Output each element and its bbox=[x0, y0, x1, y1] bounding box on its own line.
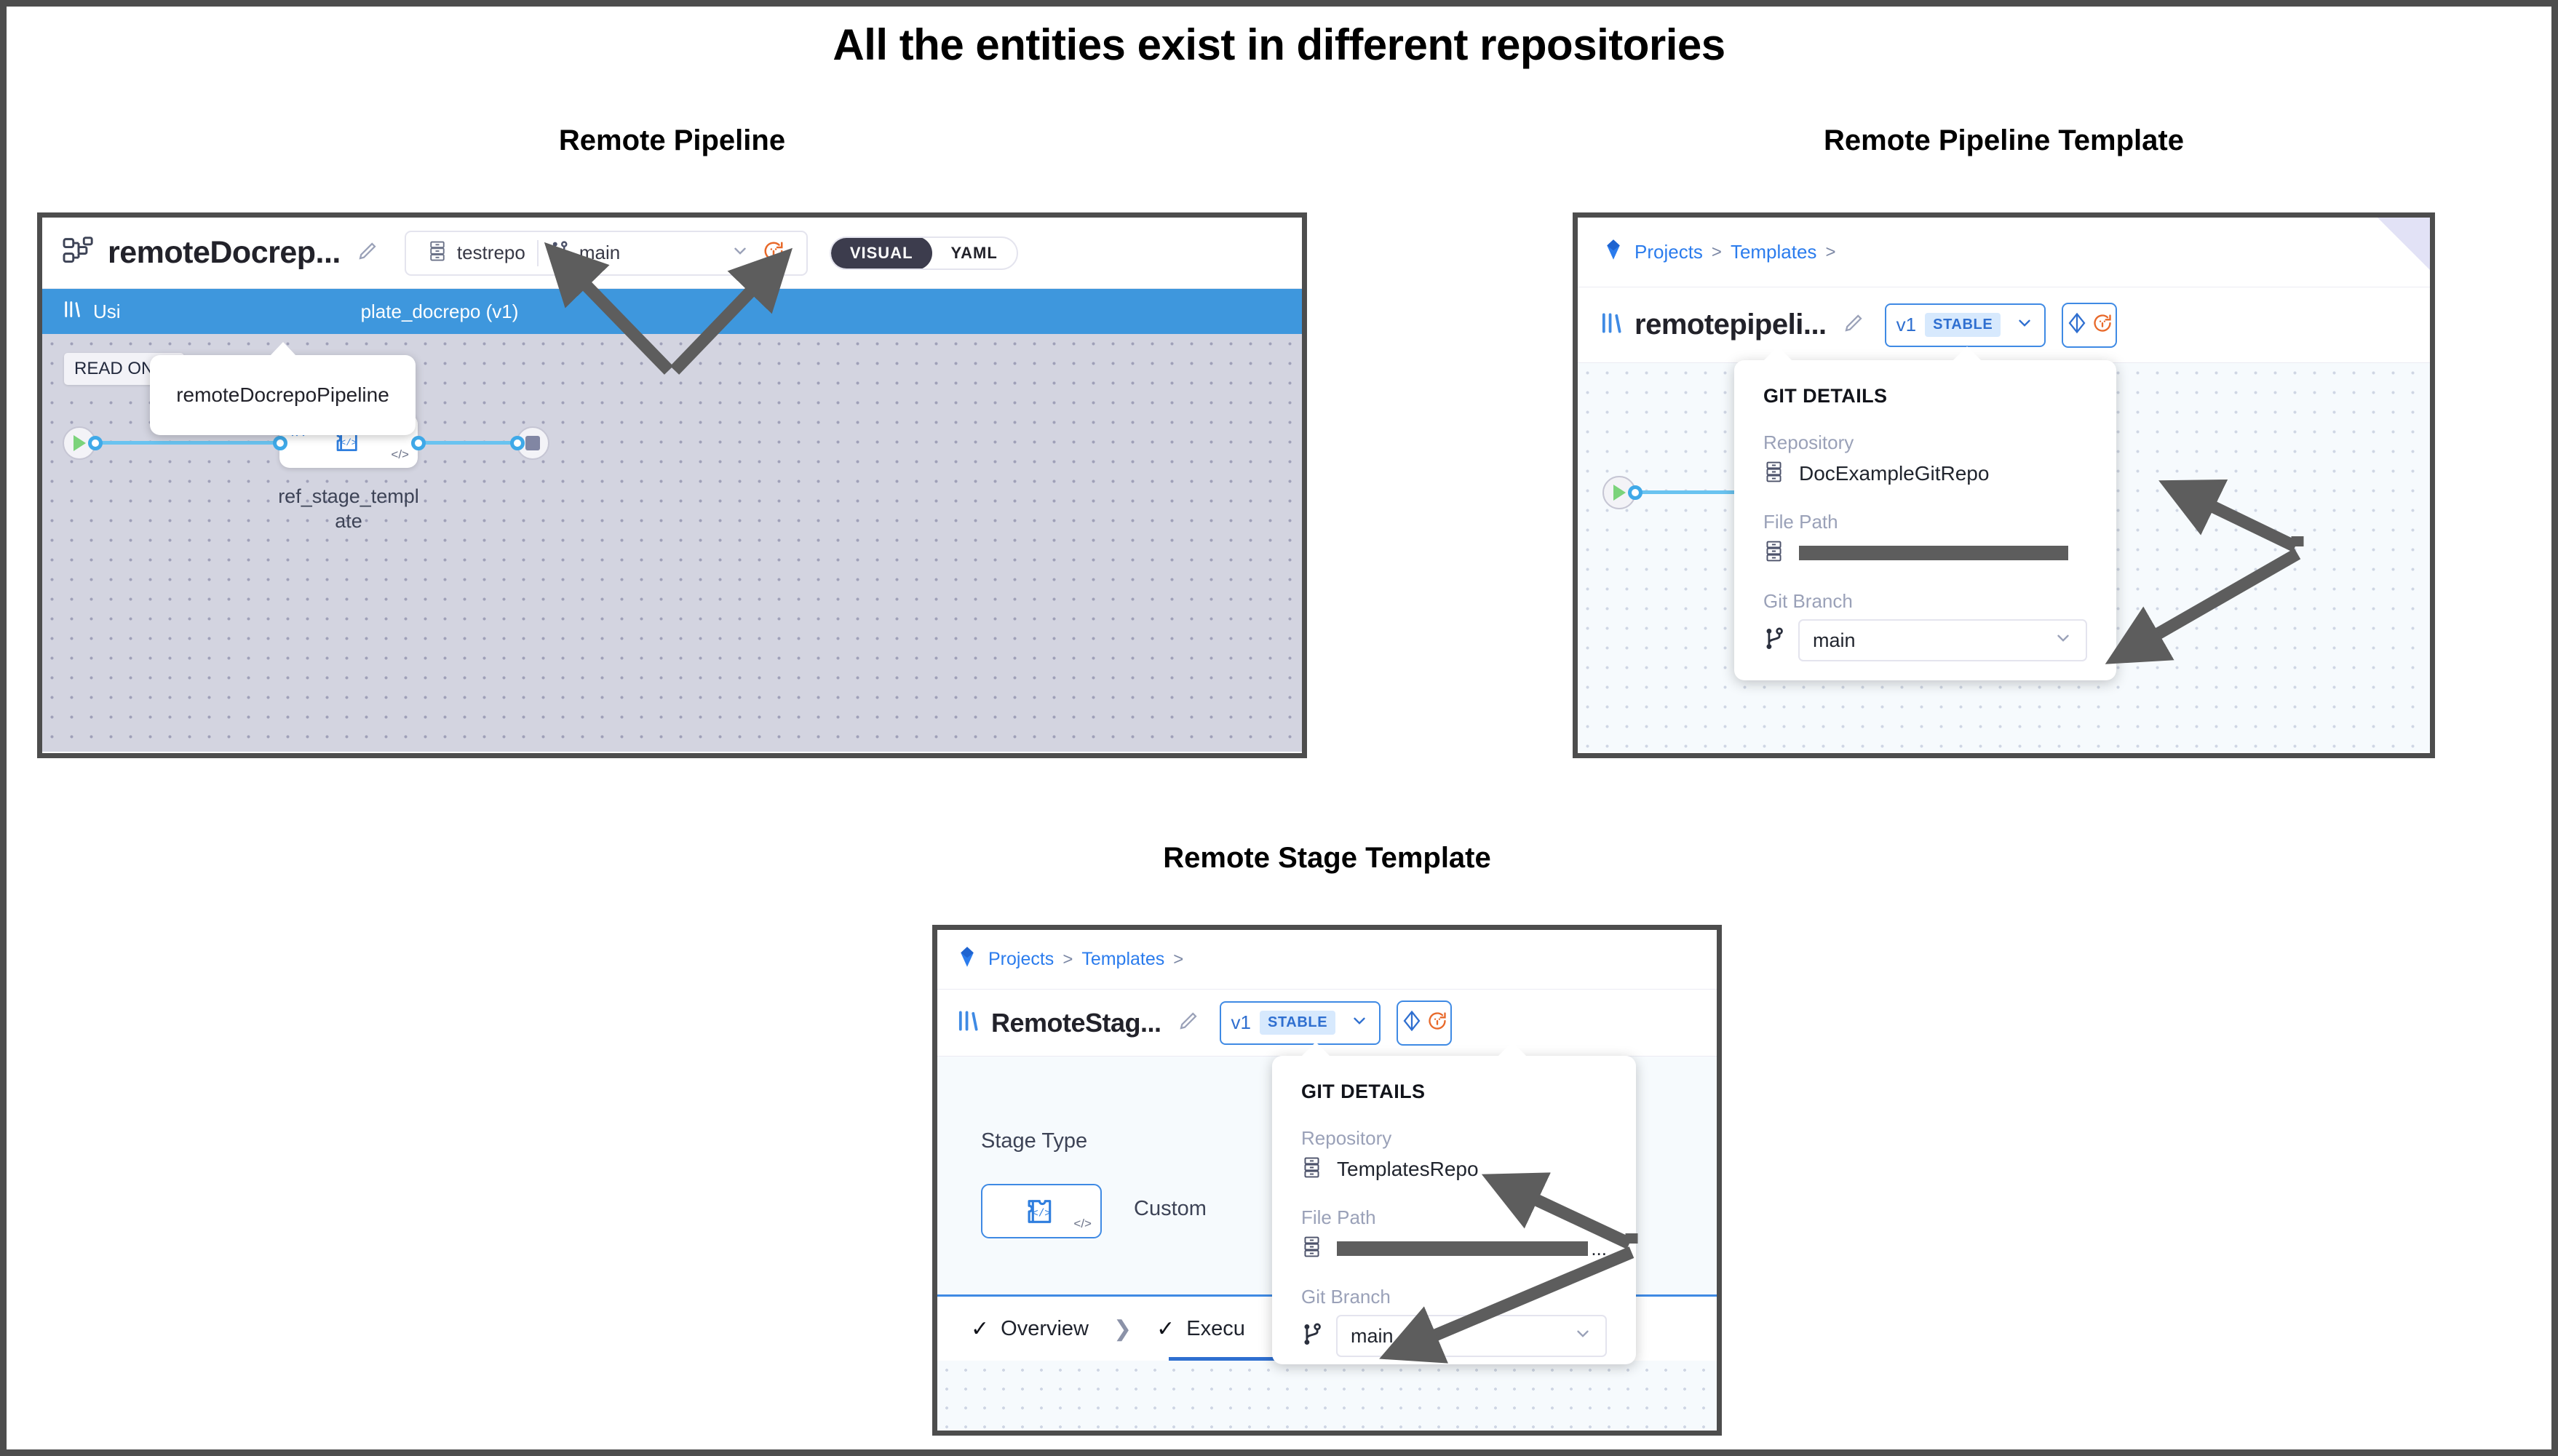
port bbox=[510, 436, 525, 450]
template-name: remotepipeli... bbox=[1635, 309, 1827, 341]
breadcrumb: Projects > Templates > bbox=[1578, 218, 2430, 287]
template-bars-icon bbox=[956, 1009, 991, 1037]
git-diamond-icon bbox=[2066, 311, 2088, 338]
stage-type-value: Custom bbox=[1134, 1197, 1207, 1221]
tab-yaml[interactable]: YAML bbox=[932, 238, 1017, 268]
file-path-label: File Path bbox=[1763, 511, 2087, 533]
version-selector[interactable]: v1 STABLE bbox=[1220, 1001, 1381, 1045]
caption-remote-pipeline-template: Remote Pipeline Template bbox=[1573, 124, 2435, 157]
clock-history-icon[interactable] bbox=[750, 240, 785, 266]
pipeline-name-tooltip: remoteDocrepoPipeline bbox=[150, 355, 416, 435]
pipeline-icon bbox=[63, 236, 95, 269]
git-branch-row[interactable]: main bbox=[1301, 1315, 1607, 1357]
repository-icon bbox=[1763, 540, 1784, 566]
breadcrumb-separator: > bbox=[1825, 242, 1835, 263]
slide-root: All the entities exist in different repo… bbox=[0, 0, 2558, 1456]
git-details-heading: GIT DETAILS bbox=[1763, 385, 2087, 407]
git-details-popup: GIT DETAILS Repository TemplatesRepo Fil… bbox=[1272, 1056, 1636, 1364]
tab-overview[interactable]: ✓ Overview bbox=[971, 1297, 1089, 1361]
pencil-icon[interactable] bbox=[1827, 312, 1864, 338]
breadcrumb-templates[interactable]: Templates bbox=[1081, 949, 1164, 970]
chevron-right-icon: ❯ bbox=[1113, 1316, 1132, 1342]
template-banner-right: plate_docrepo (v1) bbox=[361, 301, 519, 323]
template-header: remotepipeli... v1 STABLE bbox=[1578, 287, 2430, 363]
visual-yaml-toggle[interactable]: VISUAL YAML bbox=[830, 236, 1018, 270]
tab-overview-label: Overview bbox=[1001, 1317, 1089, 1341]
git-branch-row[interactable]: main bbox=[1763, 619, 2087, 661]
clock-history-icon bbox=[2092, 312, 2113, 338]
page-title: All the entities exist in different repo… bbox=[7, 20, 2551, 70]
stop-icon bbox=[525, 436, 540, 450]
code-tag-icon: </> bbox=[391, 447, 409, 462]
remote-stage-template-screenshot: Projects > Templates > RemoteStag... v1 … bbox=[932, 925, 1722, 1436]
branch-cell[interactable]: main bbox=[539, 232, 796, 274]
repository-row: DocExampleGitRepo bbox=[1763, 461, 2087, 487]
template-banner: Usi plate_docrepo (v1) bbox=[42, 289, 1302, 334]
file-path-value-redacted bbox=[1799, 546, 2068, 560]
file-path-row bbox=[1763, 540, 2087, 566]
pencil-icon[interactable] bbox=[341, 240, 378, 266]
file-path-ellipsis: ... bbox=[1591, 1238, 1607, 1260]
play-icon bbox=[74, 435, 86, 451]
git-branch-select[interactable]: main bbox=[1798, 619, 2087, 661]
git-branch-icon bbox=[1301, 1322, 1323, 1350]
repository-icon bbox=[428, 240, 447, 266]
port bbox=[411, 436, 426, 450]
stage-canvas[interactable] bbox=[937, 1361, 1717, 1436]
git-branch-value: main bbox=[1351, 1325, 1394, 1348]
repository-icon bbox=[1301, 1156, 1322, 1182]
chevron-down-icon[interactable] bbox=[1568, 1324, 1592, 1348]
branch-value: main bbox=[579, 242, 725, 264]
git-details-popup: GIT DETAILS Repository DocExampleGitRepo… bbox=[1734, 360, 2116, 680]
repo-value: testrepo bbox=[457, 242, 525, 264]
chevron-down-icon[interactable] bbox=[2009, 314, 2034, 336]
version-badge: STABLE bbox=[1925, 313, 2001, 337]
repository-row: TemplatesRepo bbox=[1301, 1156, 1607, 1182]
stage-label: ref_stage_templ ate bbox=[247, 485, 450, 534]
file-path-label: File Path bbox=[1301, 1206, 1607, 1229]
check-icon: ✓ bbox=[971, 1316, 989, 1342]
remote-pipeline-screenshot: remoteDocrep... testre bbox=[37, 212, 1307, 758]
repo-branch-selector[interactable]: testrepo main bbox=[405, 231, 808, 276]
play-icon bbox=[1613, 485, 1626, 501]
svg-text:</>: </> bbox=[1032, 1208, 1051, 1220]
popup-caret bbox=[1498, 1042, 1527, 1057]
repository-value: TemplatesRepo bbox=[1337, 1158, 1479, 1181]
breadcrumb-templates[interactable]: Templates bbox=[1731, 241, 1817, 263]
template-banner-left: Usi bbox=[93, 301, 121, 323]
template-bars-icon bbox=[1600, 311, 1635, 339]
breadcrumb: Projects > Templates > bbox=[937, 930, 1717, 990]
tab-execution[interactable]: ✓ Execu bbox=[1156, 1297, 1245, 1361]
repository-icon bbox=[1301, 1236, 1322, 1262]
chevron-down-icon[interactable] bbox=[725, 242, 750, 264]
git-details-button[interactable] bbox=[2062, 303, 2117, 348]
breadcrumb-projects[interactable]: Projects bbox=[1635, 241, 1703, 263]
harness-logo-icon bbox=[1602, 239, 1635, 266]
version-number: v1 bbox=[1896, 314, 1916, 336]
pencil-icon[interactable] bbox=[1161, 1010, 1199, 1035]
breadcrumb-separator: > bbox=[1062, 950, 1073, 970]
file-path-row: ... bbox=[1301, 1236, 1607, 1262]
version-selector[interactable]: v1 STABLE bbox=[1885, 303, 2046, 347]
template-bars-icon bbox=[63, 300, 93, 324]
edge bbox=[95, 441, 277, 445]
version-number: v1 bbox=[1231, 1011, 1251, 1034]
repository-label: Repository bbox=[1763, 431, 2087, 454]
port bbox=[88, 436, 103, 450]
breadcrumb-separator: > bbox=[1712, 242, 1722, 263]
git-details-button[interactable] bbox=[1397, 1000, 1452, 1046]
git-diamond-icon bbox=[1401, 1009, 1423, 1036]
corner-decoration bbox=[2378, 218, 2430, 270]
git-branch-label: Git Branch bbox=[1763, 590, 2087, 613]
git-branch-label: Git Branch bbox=[1301, 1286, 1607, 1308]
svg-text:</>: </> bbox=[341, 437, 357, 448]
caption-remote-stage-template: Remote Stage Template bbox=[932, 842, 1722, 875]
remote-pipeline-template-screenshot: Projects > Templates > remotepipeli... v… bbox=[1573, 212, 2435, 758]
git-branch-value: main bbox=[1813, 629, 1856, 652]
git-details-heading: GIT DETAILS bbox=[1301, 1081, 1607, 1103]
pipeline-header: remoteDocrep... testre bbox=[42, 218, 1302, 289]
repo-cell[interactable]: testrepo bbox=[416, 232, 537, 274]
stage-type-custom-card[interactable]: </> </> bbox=[981, 1184, 1102, 1238]
check-icon: ✓ bbox=[1156, 1316, 1175, 1342]
port bbox=[1628, 485, 1643, 500]
git-branch-icon bbox=[1763, 626, 1785, 655]
repository-value: DocExampleGitRepo bbox=[1799, 462, 1989, 485]
version-badge: STABLE bbox=[1260, 1011, 1335, 1035]
code-tag-icon: </> bbox=[1073, 1217, 1092, 1231]
breadcrumb-separator: > bbox=[1173, 950, 1183, 970]
file-path-value-redacted bbox=[1337, 1241, 1588, 1256]
tab-execution-label: Execu bbox=[1186, 1317, 1245, 1341]
popup-caret bbox=[1953, 346, 1982, 361]
chevron-down-icon[interactable] bbox=[2048, 629, 2073, 653]
repository-icon bbox=[1763, 461, 1784, 487]
harness-logo-icon bbox=[956, 946, 988, 973]
tab-visual[interactable]: VISUAL bbox=[831, 236, 932, 270]
chevron-down-icon[interactable] bbox=[1344, 1011, 1369, 1034]
template-name: RemoteStag... bbox=[991, 1008, 1161, 1038]
repository-label: Repository bbox=[1301, 1127, 1607, 1150]
git-branch-select[interactable]: main bbox=[1336, 1315, 1607, 1357]
git-branch-icon bbox=[550, 240, 569, 266]
caption-remote-pipeline: Remote Pipeline bbox=[37, 124, 1307, 157]
breadcrumb-projects[interactable]: Projects bbox=[988, 949, 1054, 970]
clock-history-icon bbox=[1427, 1010, 1447, 1035]
pipeline-name: remoteDocrep... bbox=[108, 235, 341, 271]
port bbox=[273, 436, 287, 450]
stage-type-label: Stage Type bbox=[981, 1129, 1087, 1153]
